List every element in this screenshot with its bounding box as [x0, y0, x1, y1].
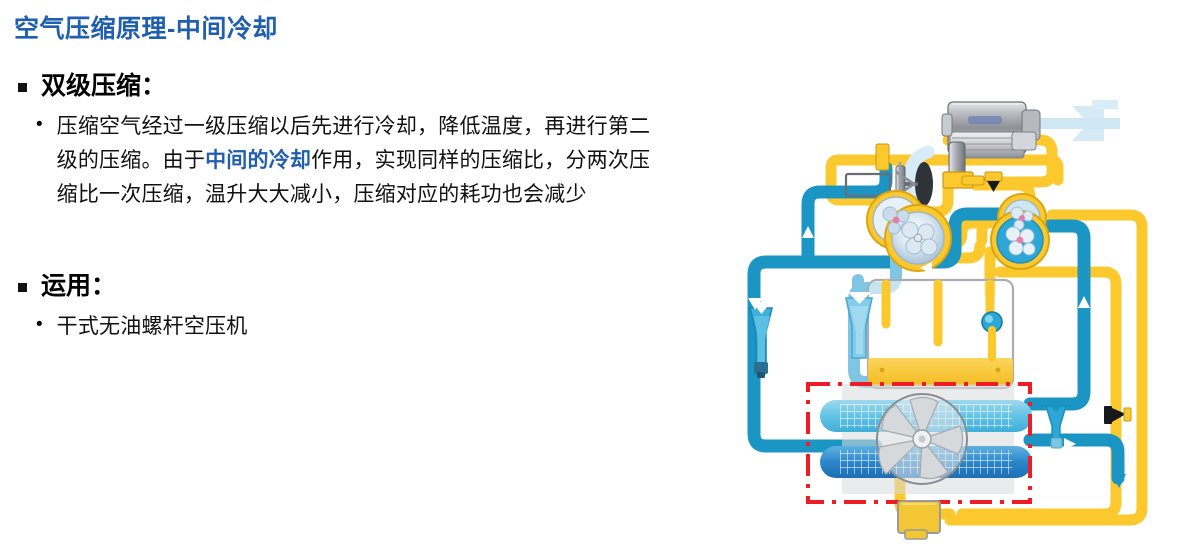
bullet-item: • 压缩空气经过一级压缩以后先进行冷却，降低温度，再进行第二级的压缩。由于中间的… [36, 110, 684, 212]
section-spacer [14, 216, 684, 270]
text-column: 空气压缩原理-中间冷却 双级压缩： • 压缩空气经过一级压缩以后先进行冷却，降低… [0, 0, 700, 546]
section-heading-label: 运用： [41, 270, 116, 304]
section-heading-label: 双级压缩： [41, 70, 166, 104]
oil-pump-filter [898, 501, 940, 539]
square-bullet-icon [18, 83, 27, 92]
cooling-fan [877, 394, 967, 484]
section-heading-row: 运用： [14, 270, 684, 304]
page-title: 空气压缩原理-中间冷却 [14, 14, 684, 44]
section-application: 运用： • 干式无油螺杆空压机 [14, 270, 684, 344]
oil-reservoir-tank [868, 280, 1013, 388]
round-bullet-icon: • [36, 110, 43, 139]
square-bullet-icon [18, 283, 27, 292]
compressor-schematic-diagram [700, 40, 1200, 546]
slide-root: 空气压缩原理-中间冷却 双级压缩： • 压缩空气经过一级压缩以后先进行冷却，降低… [0, 0, 1200, 546]
section-two-stage-compression: 双级压缩： • 压缩空气经过一级压缩以后先进行冷却，降低温度，再进行第二级的压缩… [14, 70, 684, 212]
highlighted-term: 中间的冷却 [205, 149, 311, 172]
bullet-item: • 干式无油螺杆空压机 [36, 310, 684, 344]
round-bullet-icon: • [36, 310, 43, 339]
bullet-item-text: 干式无油螺杆空压机 [57, 310, 248, 344]
section-heading-row: 双级压缩： [14, 70, 684, 104]
second-stage-screw-element [991, 194, 1049, 269]
bullet-item-text: 压缩空气经过一级压缩以后先进行冷却，降低温度，再进行第二级的压缩。由于中间的冷却… [57, 110, 667, 212]
